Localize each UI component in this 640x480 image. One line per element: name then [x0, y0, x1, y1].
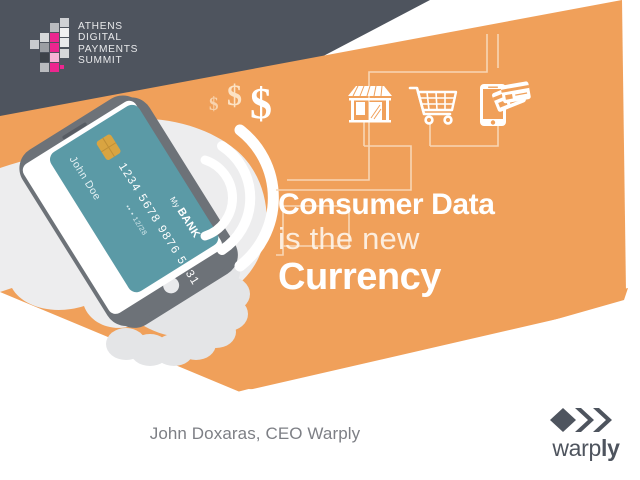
adps-logo-wordmark: ATHENS DIGITAL PAYMENTS SUMMIT	[78, 21, 138, 67]
adps-line-2: DIGITAL	[78, 32, 138, 43]
presentation-slide: My BANK 1234 5678 9876 5431 •• • 12/28 J…	[0, 0, 640, 480]
athens-digital-payments-summit-logo: ATHENS DIGITAL PAYMENTS SUMMIT	[30, 18, 155, 78]
mobile-wallet-icon	[480, 81, 531, 126]
headline-line-1: Consumer Data	[278, 188, 608, 221]
adps-logo-mark	[30, 18, 76, 74]
warply-chevron-mark	[549, 407, 623, 433]
shopping-cart-icon	[410, 88, 456, 123]
adps-line-4: SUMMIT	[78, 55, 138, 66]
slide-headline: Consumer Data is the new Currency	[278, 188, 608, 298]
warply-wordmark: warply	[543, 435, 629, 462]
warply-word-light: warp	[552, 435, 601, 461]
adps-line-1: ATHENS	[78, 21, 138, 32]
headline-line-2: is the new	[278, 221, 608, 256]
storefront-icon	[348, 86, 392, 123]
presenter-name: John Doxaras, CEO Warply	[150, 424, 361, 443]
warply-word-bold: ly	[601, 435, 620, 461]
headline-line-3: Currency	[278, 256, 608, 298]
adps-line-3: PAYMENTS	[78, 44, 138, 55]
warply-logo: warply	[543, 407, 629, 465]
